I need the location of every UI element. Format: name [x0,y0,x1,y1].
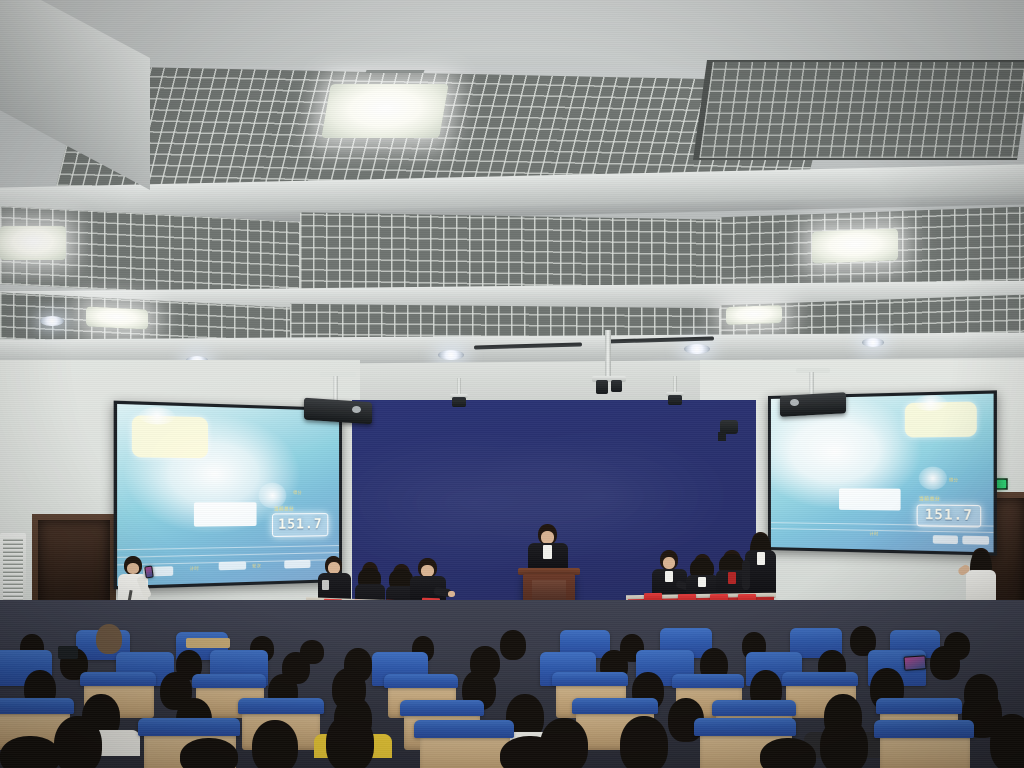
projector-right [778,368,850,424]
right-screen-score-caption: 当前总分 [919,496,940,502]
ceiling [0,0,1024,420]
left-screen-score-value: 151.7 [278,517,322,533]
left-screen-tag-label: 得分 [293,490,302,496]
right-screen-footer-1 [933,535,958,543]
auditorium-scene: 得分 151.7 当前总分 计时 轮次 得分 151.7 当前总分 [0,0,1024,768]
left-screen-info-panel [194,502,256,527]
ceiling-grid-texture-b [699,62,1024,158]
aisle-armrest [186,638,230,648]
phone-camera-left[interactable] [144,566,154,579]
ceiling-panel-light-5 [726,305,782,325]
audience-row-6 [0,736,1024,768]
projector-left [300,372,376,430]
stage-light-rig-left [448,378,470,412]
wall-spot-light-right [718,418,744,442]
downlight-5 [40,316,64,326]
light-hanger-1 [365,70,424,73]
phone-audience-left[interactable] [58,646,78,659]
left-screen-score-box: 151.7 [272,514,329,537]
moderator-collar [543,545,552,559]
right-screen-tag-label: 得分 [949,478,958,484]
ceiling-panel-light-3 [812,228,898,263]
left-screen-bottom-tag-2: 轮次 [252,562,261,568]
downlight-2 [438,350,464,360]
wall-air-conditioner [0,533,26,609]
left-screen-footer-2 [219,561,246,570]
left-screen-score-caption: 当前总分 [274,506,294,512]
stage-light-rig-center [588,330,630,406]
right-screen-info-panel [839,488,901,510]
left-screen-bottom-tag-1: 计时 [190,566,199,573]
right-screen-decor-blob-2 [919,467,947,490]
right-screen-bottom-tag-1: 计时 [870,531,879,537]
downlight-3 [684,344,710,354]
ceiling-panel-light-4 [86,306,148,329]
left-screen-decor-blob-2 [259,483,287,509]
ceiling-panel-light-2 [0,226,66,260]
stage-light-rig-right [664,376,686,410]
ceiling-panel-light-1 [321,84,449,138]
downlight-4 [862,338,884,347]
right-screen-decor-blob-1 [914,395,946,411]
right-screen-score-value: 151.7 [925,507,973,524]
ceiling-slab-top [0,0,1024,66]
